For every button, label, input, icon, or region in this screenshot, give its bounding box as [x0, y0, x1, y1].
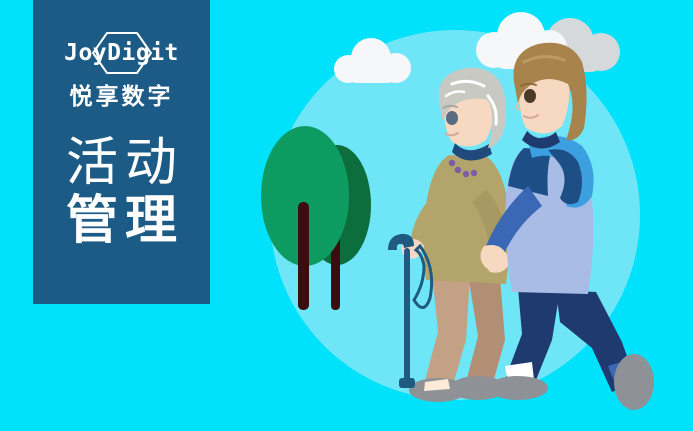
page-title-line-1: 活动 — [59, 134, 184, 192]
cane-tip — [399, 378, 415, 388]
logo-wordmark: JoyDigit — [64, 42, 179, 65]
youth-far-shoe — [614, 354, 654, 410]
page-title-line-2: 管理 — [59, 192, 184, 250]
logo-chinese-name: 悦享数字 — [70, 85, 174, 108]
poster-canvas: JoyDigit 悦享数字 活动 管理 — [0, 0, 693, 431]
left-title-panel: JoyDigit 悦享数字 活动 管理 — [33, 0, 210, 304]
youth-eye — [524, 89, 536, 103]
brand-logo: JoyDigit 悦享数字 — [52, 30, 192, 108]
logo-mark: JoyDigit — [52, 30, 192, 76]
youth-near-shoe — [488, 376, 548, 400]
page-title: 活动 管理 — [59, 134, 184, 250]
cane-shaft — [404, 248, 410, 386]
elder-eye — [446, 111, 458, 125]
